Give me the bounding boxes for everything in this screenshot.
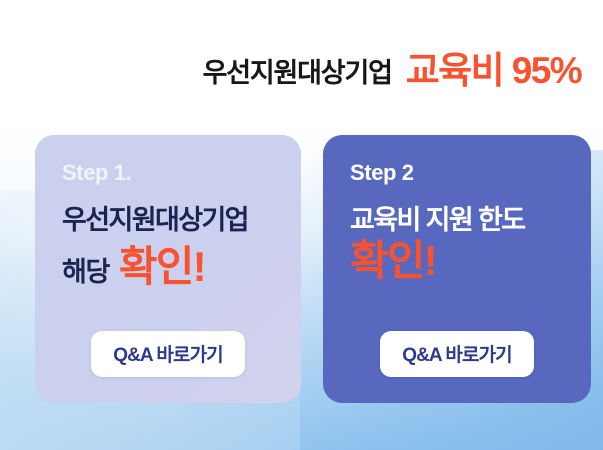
step-card-2-cta-wrap: Q&A 바로가기: [323, 331, 591, 377]
step-card-1[interactable]: Step 1. 우선지원대상기업 해당 확인! Q&A 바로가기: [35, 135, 301, 403]
step-card-1-step-label: Step 1.: [62, 161, 301, 185]
step-card-1-emphasis-lead: 해당: [62, 250, 109, 289]
step-card-2-emphasis-accent: 확인!: [350, 240, 436, 282]
headline-lead-text: 우선지원대상기업: [203, 51, 392, 90]
headline-accent-text: 교육비 95%: [406, 52, 581, 89]
step-card-2-qna-button[interactable]: Q&A 바로가기: [380, 331, 534, 377]
step-card-2-emphasis-row: 확인!: [350, 240, 591, 282]
step-cards-container: Step 1. 우선지원대상기업 해당 확인! Q&A 바로가기 Step 2 …: [35, 135, 591, 403]
step-card-2[interactable]: Step 2 교육비 지원 한도 확인! Q&A 바로가기: [323, 135, 591, 403]
step-card-1-title: 우선지원대상기업: [62, 205, 301, 236]
step-card-2-title: 교육비 지원 한도: [350, 205, 591, 236]
step-card-1-qna-button[interactable]: Q&A 바로가기: [91, 331, 245, 377]
step-card-1-cta-wrap: Q&A 바로가기: [35, 331, 301, 377]
step-card-1-emphasis-row: 해당 확인!: [62, 246, 301, 289]
banner-headline: 우선지원대상기업 교육비 95%: [0, 48, 581, 92]
step-card-1-emphasis-accent: 확인!: [119, 246, 205, 288]
step-card-2-step-label: Step 2: [350, 161, 591, 185]
